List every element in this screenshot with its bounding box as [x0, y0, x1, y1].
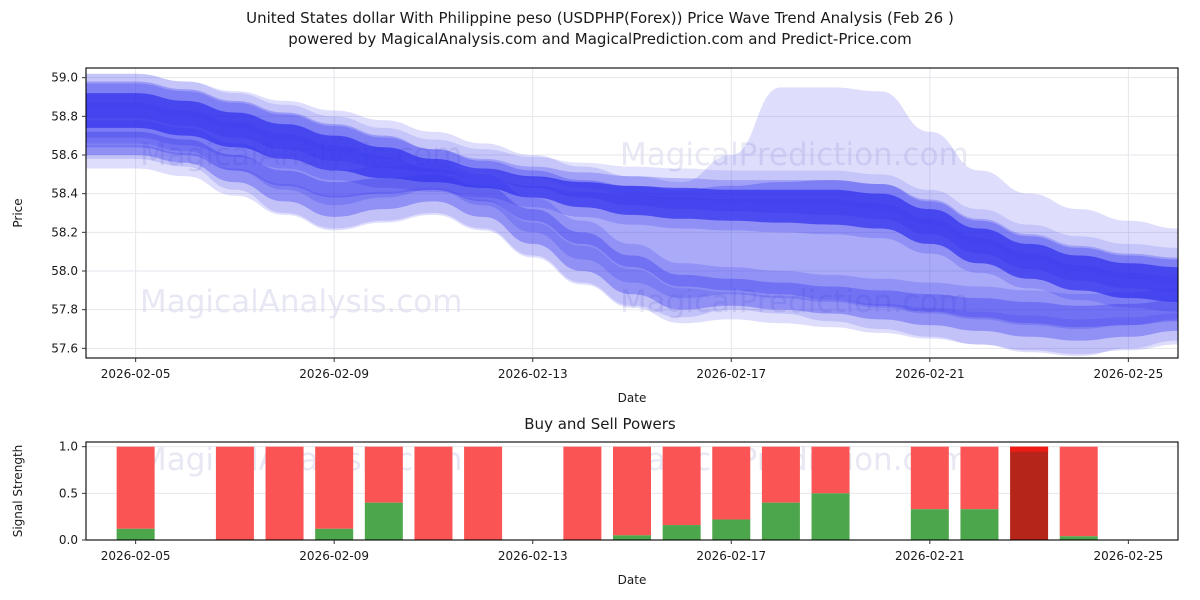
price-x-tick-label: 2026-02-13: [498, 367, 568, 381]
price-y-tick-label: 58.6: [51, 148, 78, 162]
power-bar-buy[interactable]: [315, 529, 353, 540]
power-bar[interactable]: [365, 447, 403, 540]
price-y-tick-label: 59.0: [51, 71, 78, 85]
power-bar-buy[interactable]: [613, 535, 651, 540]
power-x-tick-label: 2026-02-09: [299, 549, 369, 563]
power-bar-sell[interactable]: [216, 447, 254, 540]
power-bar[interactable]: [911, 447, 949, 540]
buy-sell-powers-chart: MagicalAnalysis.comMagicalPrediction.com…: [0, 410, 1200, 600]
power-bar[interactable]: [464, 447, 502, 540]
power-y-tick-label: 1.0: [59, 440, 78, 454]
power-bar[interactable]: [216, 447, 254, 540]
power-bar[interactable]: [613, 447, 651, 540]
power-bar-buy[interactable]: [663, 525, 701, 540]
power-bar[interactable]: [1060, 447, 1098, 540]
power-y-axis-label: Signal Strength: [11, 445, 25, 538]
power-y-tick-label: 0.5: [59, 486, 78, 500]
power-x-axis-label: Date: [618, 573, 647, 587]
power-bar[interactable]: [563, 447, 601, 540]
power-bar-sell[interactable]: [117, 447, 155, 529]
power-bar[interactable]: [1010, 447, 1048, 540]
price-y-axis: 57.657.858.058.258.458.658.859.0: [51, 71, 86, 356]
price-y-tick-label: 58.2: [51, 225, 78, 239]
price-x-tick-label: 2026-02-25: [1093, 367, 1163, 381]
power-bar[interactable]: [663, 447, 701, 540]
power-bar-highlight[interactable]: [1010, 447, 1048, 540]
power-bar[interactable]: [712, 447, 750, 540]
power-bar[interactable]: [315, 447, 353, 540]
power-bar-buy[interactable]: [1060, 536, 1098, 540]
price-x-axis-label: Date: [618, 391, 647, 405]
power-bar-sell[interactable]: [365, 447, 403, 503]
power-bar-sell[interactable]: [712, 447, 750, 520]
power-y-axis: 0.00.51.0: [59, 440, 86, 547]
price-y-axis-label: Price: [11, 198, 25, 227]
price-x-axis: 2026-02-052026-02-092026-02-132026-02-17…: [101, 358, 1163, 381]
power-bar[interactable]: [960, 447, 998, 540]
power-bar-sell[interactable]: [266, 447, 304, 540]
price-y-tick-label: 58.0: [51, 264, 78, 278]
power-bar-sell[interactable]: [812, 447, 850, 494]
power-x-axis: 2026-02-052026-02-092026-02-132026-02-17…: [101, 540, 1163, 563]
power-bar[interactable]: [414, 447, 452, 540]
power-bar-buy[interactable]: [762, 503, 800, 540]
power-bar-sell[interactable]: [911, 447, 949, 510]
chart-page: United States dollar With Philippine pes…: [0, 0, 1200, 600]
power-bar-sell[interactable]: [960, 447, 998, 510]
power-bar-buy[interactable]: [712, 519, 750, 540]
power-x-tick-label: 2026-02-17: [696, 549, 766, 563]
price-y-tick-label: 58.8: [51, 109, 78, 123]
power-bar-sell[interactable]: [414, 447, 452, 540]
power-x-tick-label: 2026-02-05: [101, 549, 171, 563]
power-bar-buy[interactable]: [960, 509, 998, 540]
power-bar-sell[interactable]: [1060, 447, 1098, 537]
price-x-tick-label: 2026-02-05: [101, 367, 171, 381]
power-bar-buy[interactable]: [812, 493, 850, 540]
price-y-tick-label: 57.6: [51, 341, 78, 355]
price-x-tick-label: 2026-02-17: [696, 367, 766, 381]
power-x-tick-label: 2026-02-21: [895, 549, 965, 563]
power-bar-sell[interactable]: [464, 447, 502, 540]
price-y-tick-label: 58.4: [51, 187, 78, 201]
power-bar-sell[interactable]: [613, 447, 651, 536]
power-bar-sell[interactable]: [663, 447, 701, 525]
power-bar-sell[interactable]: [762, 447, 800, 503]
power-bar[interactable]: [117, 447, 155, 540]
power-x-tick-label: 2026-02-25: [1093, 549, 1163, 563]
power-bar-highlight-cap: [1010, 447, 1048, 452]
power-x-tick-label: 2026-02-13: [498, 549, 568, 563]
power-bar-buy[interactable]: [911, 509, 949, 540]
power-bar[interactable]: [266, 447, 304, 540]
power-y-tick-label: 0.0: [59, 533, 78, 547]
power-bar[interactable]: [762, 447, 800, 540]
power-bar-buy[interactable]: [117, 529, 155, 540]
price-y-tick-label: 57.8: [51, 303, 78, 317]
power-bar-sell[interactable]: [315, 447, 353, 529]
power-bar-buy[interactable]: [365, 503, 403, 540]
price-x-tick-label: 2026-02-09: [299, 367, 369, 381]
svg-text:MagicalAnalysis.com: MagicalAnalysis.com: [140, 284, 462, 320]
price-x-tick-label: 2026-02-21: [895, 367, 965, 381]
price-wave-chart: MagicalAnalysis.comMagicalPrediction.com…: [0, 0, 1200, 410]
power-bar-sell[interactable]: [563, 447, 601, 540]
power-bar[interactable]: [812, 447, 850, 540]
